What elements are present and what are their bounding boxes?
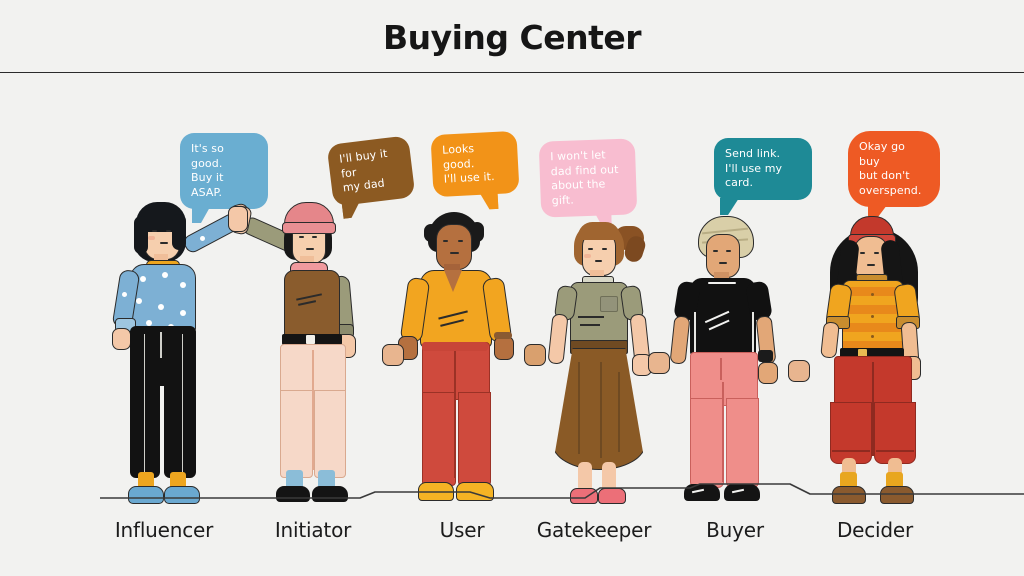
blouse-crease bbox=[580, 324, 600, 326]
blouse-crease bbox=[578, 316, 604, 318]
blouse bbox=[570, 282, 628, 346]
eye-right bbox=[166, 230, 171, 232]
ground-line bbox=[0, 430, 1024, 520]
polka-dot bbox=[158, 304, 164, 310]
tshirt-collar-line bbox=[708, 282, 736, 284]
shirt-stripe bbox=[843, 305, 903, 314]
hand-right bbox=[758, 362, 778, 384]
smartwatch bbox=[758, 350, 773, 362]
bangs bbox=[578, 222, 620, 240]
cheek-blush bbox=[584, 254, 591, 258]
polka-dot bbox=[162, 272, 168, 278]
joined-hands-1-2 bbox=[228, 206, 248, 232]
eye-left bbox=[299, 236, 304, 238]
bubble-line: about the gift. bbox=[551, 177, 626, 209]
tshirt-seam bbox=[752, 312, 754, 352]
hair-side-right bbox=[172, 214, 186, 250]
trouser-drawstring bbox=[720, 358, 722, 380]
page-title: Buying Center bbox=[0, 18, 1024, 57]
cheek-blush bbox=[148, 236, 155, 240]
arm-left bbox=[670, 315, 691, 364]
bubble-line: but don't bbox=[859, 169, 929, 184]
arm-left bbox=[820, 321, 840, 358]
eye-left bbox=[443, 240, 448, 242]
bubble-line: overspend. bbox=[859, 184, 929, 199]
role-label-buyer: Buyer bbox=[672, 518, 798, 542]
hair-side-left bbox=[134, 216, 148, 254]
bubble-line: dad find out bbox=[551, 162, 625, 179]
polka-dot bbox=[122, 292, 127, 297]
role-label-influencer: Influencer bbox=[96, 518, 232, 542]
buying-center-infographic: Buying Center It's so good. Buy it ASAP.… bbox=[0, 0, 1024, 576]
mouth bbox=[160, 242, 168, 244]
role-label-decider: Decider bbox=[808, 518, 942, 542]
hand-right bbox=[494, 336, 514, 360]
role-label-user: User bbox=[400, 518, 524, 542]
mouth bbox=[867, 264, 875, 266]
hair-curl bbox=[470, 222, 484, 242]
wristband bbox=[494, 332, 512, 339]
eye-right bbox=[312, 236, 317, 238]
bubble-line: I'll use it. bbox=[443, 169, 508, 187]
speech-bubble-decider: Okay go buy but don't overspend. bbox=[848, 131, 940, 207]
bubble-line: Buy it ASAP. bbox=[191, 171, 257, 200]
eye-left bbox=[588, 248, 593, 250]
trouser-drawstring bbox=[160, 332, 162, 358]
beanie-brim bbox=[282, 222, 336, 234]
trouser-waistband bbox=[422, 342, 488, 351]
polka-dot bbox=[200, 236, 205, 241]
speech-bubble-initiator: I'll buy it for my dad bbox=[327, 135, 416, 206]
joined-hands-4-5 bbox=[648, 352, 670, 374]
joined-hands-5-6 bbox=[788, 360, 810, 382]
shirt-stripe bbox=[843, 323, 903, 332]
tshirt-seam bbox=[694, 312, 696, 352]
polka-dot bbox=[180, 310, 186, 316]
shirt-button bbox=[871, 335, 874, 338]
blouse-pocket bbox=[600, 296, 618, 312]
role-label-initiator: Initiator bbox=[248, 518, 378, 542]
vest bbox=[284, 270, 340, 340]
bubble-line: Looks good. bbox=[442, 140, 507, 172]
eye-right bbox=[874, 252, 879, 254]
speech-bubble-user: Looks good. I'll use it. bbox=[430, 131, 519, 197]
speech-bubble-gatekeeper: I won't let dad find out about the gift. bbox=[539, 138, 638, 217]
bubble-line: It's so good. bbox=[191, 142, 257, 171]
belt-buckle bbox=[306, 335, 315, 344]
trousers bbox=[130, 326, 196, 386]
eye-right bbox=[602, 248, 607, 250]
shirt-button bbox=[871, 293, 874, 296]
mouth bbox=[306, 248, 314, 250]
eye-right bbox=[458, 240, 463, 242]
bubble-line: Send link. bbox=[725, 147, 801, 162]
eye-left bbox=[713, 250, 718, 252]
bubble-line: Okay go buy bbox=[859, 140, 929, 169]
header-divider bbox=[0, 72, 1024, 73]
joined-hands-3-4 bbox=[524, 344, 546, 366]
bubble-line: I'll use my card. bbox=[725, 162, 801, 191]
polka-dot bbox=[140, 276, 146, 282]
hand-left bbox=[112, 328, 131, 350]
polka-dot bbox=[180, 282, 186, 288]
speech-bubble-buyer: Send link. I'll use my card. bbox=[714, 138, 812, 200]
speech-bubble-influencer: It's so good. Buy it ASAP. bbox=[180, 133, 268, 209]
eye-right bbox=[726, 250, 731, 252]
eye-left bbox=[860, 252, 865, 254]
arm-left bbox=[547, 313, 568, 364]
mouth bbox=[595, 260, 602, 262]
role-label-gatekeeper: Gatekeeper bbox=[524, 518, 664, 542]
mouth bbox=[719, 262, 727, 264]
polka-dot bbox=[136, 298, 142, 304]
eye-left bbox=[152, 230, 157, 232]
shirt-button bbox=[871, 315, 874, 318]
mouth bbox=[450, 252, 459, 254]
joined-hands-2-3 bbox=[382, 344, 404, 366]
